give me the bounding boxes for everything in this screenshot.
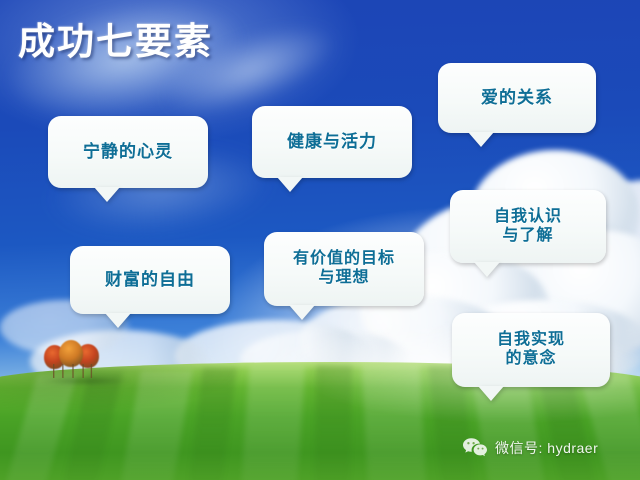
- bubble-tail-valuable-goals: [289, 305, 315, 320]
- bubble-tail-self-realization: [478, 386, 504, 401]
- bubble-label: 爱的关系: [481, 88, 553, 108]
- bubble-tail-health-vitality: [277, 177, 303, 192]
- bubble-label: 财富的自由: [105, 270, 195, 290]
- bubble-label: 有价值的目标 与理想: [293, 250, 395, 288]
- bubble-valuable-goals[interactable]: 有价值的目标 与理想: [264, 232, 424, 306]
- watermark-text: 微信号: hydraer: [495, 438, 598, 458]
- bubble-label: 宁静的心灵: [83, 142, 173, 162]
- bubble-peaceful-mind[interactable]: 宁静的心灵: [48, 116, 208, 188]
- bubble-tail-self-knowledge: [474, 262, 500, 277]
- bubble-health-vitality[interactable]: 健康与活力: [252, 106, 412, 178]
- page-title: 成功七要素: [18, 22, 213, 63]
- tree-trunks: [50, 364, 96, 378]
- bubble-label: 自我认识 与了解: [494, 208, 562, 246]
- bubble-wealth-freedom[interactable]: 财富的自由: [70, 246, 230, 314]
- bubble-love-relationship[interactable]: 爱的关系: [438, 63, 596, 133]
- watermark: 微信号: hydraer: [462, 437, 598, 459]
- bubble-tail-love-relationship: [468, 132, 494, 147]
- bubble-self-realization[interactable]: 自我实现 的意念: [452, 313, 610, 387]
- bubble-label: 自我实现 的意念: [497, 331, 565, 369]
- bubble-tail-peaceful-mind: [94, 187, 120, 202]
- bubble-label: 健康与活力: [287, 132, 377, 152]
- tree-canopy: [59, 340, 83, 367]
- tree-cluster: [44, 340, 102, 380]
- wechat-icon: [462, 437, 488, 459]
- bubble-tail-wealth-freedom: [105, 313, 131, 328]
- slide-canvas: 成功七要素 宁静的心灵 健康与活力 爱的关系 财富的自由 有价值的目标 与理想 …: [0, 0, 640, 480]
- bubble-self-knowledge[interactable]: 自我认识 与了解: [450, 190, 606, 263]
